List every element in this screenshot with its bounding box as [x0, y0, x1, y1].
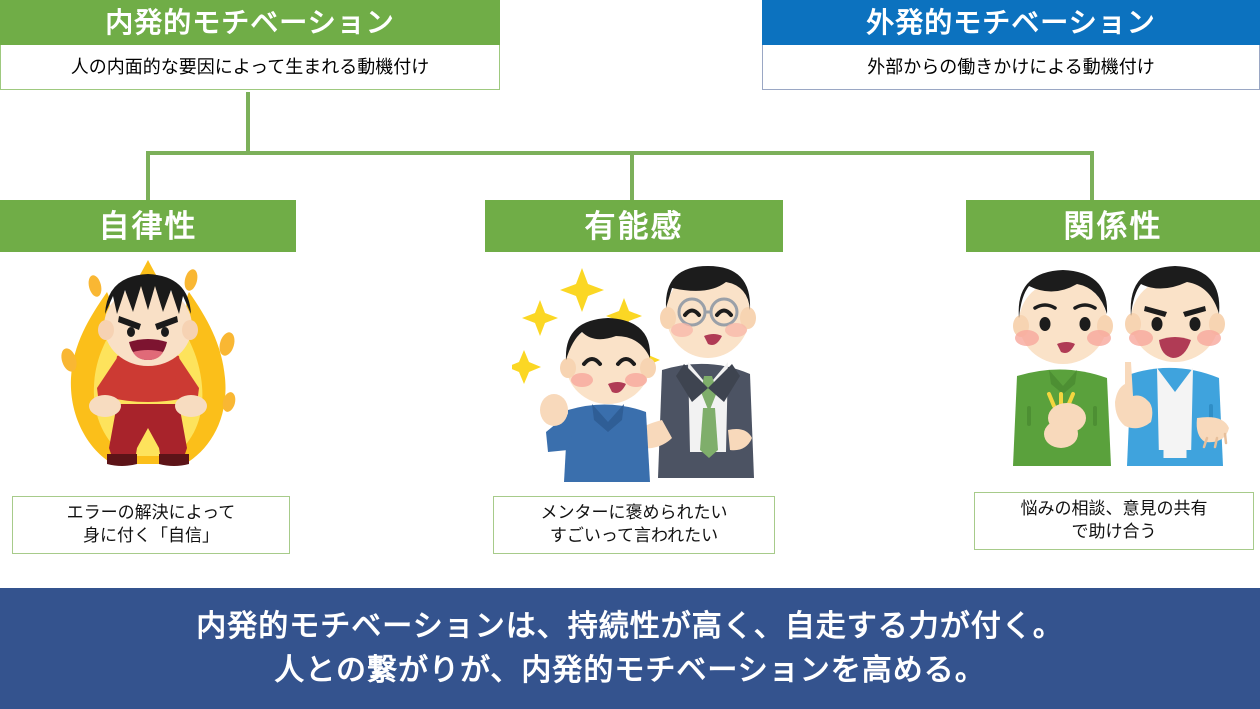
pillar-competence-label: 有能感	[485, 200, 783, 252]
green-person-cheek	[1087, 330, 1111, 346]
mentor-cheek	[671, 323, 693, 337]
mentor-cheek	[725, 323, 747, 337]
pillar-relatedness-label: 関係性	[966, 200, 1260, 252]
pillar-autonomy-label: 自律性	[0, 200, 296, 252]
blue-person-hand	[1197, 417, 1229, 442]
caption-line: 身に付く「自信」	[83, 525, 219, 548]
person-fist	[89, 395, 121, 417]
pillar-relatedness-caption: 悩みの相談、意見の共有 で助け合う	[974, 492, 1254, 550]
green-person-eye	[1080, 317, 1091, 331]
pillar-autonomy: 自律性	[0, 200, 296, 496]
extrinsic-motivation-header-group: 外発的モチベーション 外部からの働きかけによる動機付け	[762, 0, 1260, 90]
summary-line-1: 内発的モチベーションは、持続性が高く、自走する力が付く。	[196, 612, 1063, 642]
intrinsic-motivation-title: 内発的モチベーション	[0, 0, 500, 45]
slide-canvas: 内発的モチベーション 人の内面的な要因によって生まれる動機付け 外発的モチベーシ…	[0, 0, 1260, 709]
blue-person-cheek	[1129, 330, 1153, 346]
extrinsic-motivation-title: 外発的モチベーション	[762, 0, 1260, 45]
caption-line: で助け合う	[1072, 521, 1157, 544]
person-eye	[127, 327, 135, 337]
caption-line: すごいって言われたい	[550, 525, 718, 548]
extrinsic-motivation-subtitle: 外部からの働きかけによる動機付け	[762, 45, 1260, 90]
person-hair	[105, 274, 191, 314]
green-person-cheek	[1015, 330, 1039, 346]
connector-drop-autonomy	[146, 151, 150, 201]
intrinsic-motivation-header-group: 内発的モチベーション 人の内面的な要因によって生まれる動機付け	[0, 0, 500, 90]
youth-hand	[540, 394, 568, 426]
youth-cheek	[571, 373, 593, 387]
pillar-competence-caption: メンターに褒められたい すごいって言われたい	[493, 496, 775, 554]
connector-drop-competence	[630, 151, 634, 201]
youth-shirt	[564, 404, 650, 482]
green-person-eye	[1040, 317, 1051, 331]
blue-person-eye	[1190, 317, 1201, 331]
connector-stem-vertical	[246, 92, 250, 154]
person-shoe	[159, 454, 189, 466]
youth-cheek	[625, 373, 647, 387]
connector-horizontal-bus	[146, 151, 1094, 155]
sparkle-star	[522, 300, 558, 336]
person-ear	[182, 320, 198, 340]
burning-motivated-person-illustration	[0, 252, 296, 496]
caption-line: エラーの解決によって	[67, 502, 236, 525]
blue-person-eye	[1152, 317, 1163, 331]
two-people-talking-illustration	[966, 252, 1260, 496]
mentor-tie	[700, 408, 718, 458]
flame-ember	[87, 274, 104, 298]
intrinsic-motivation-subtitle: 人の内面的な要因によって生まれる動機付け	[0, 45, 500, 90]
summary-line-2: 人との繋がりが、内発的モチベーションを高める。	[274, 656, 986, 686]
mentor-praising-youth-illustration	[485, 252, 783, 496]
pillar-autonomy-caption: エラーの解決によって 身に付く「自信」	[12, 496, 290, 554]
sparkle-star	[560, 268, 604, 312]
person-ear	[98, 320, 114, 340]
pillar-competence: 有能感	[485, 200, 783, 496]
blue-person-cheek	[1197, 330, 1221, 346]
summary-banner: 内発的モチベーションは、持続性が高く、自走する力が付く。 人との繋がりが、内発的…	[0, 588, 1260, 709]
person-shoe	[107, 454, 137, 466]
caption-line: 悩みの相談、意見の共有	[1021, 498, 1208, 521]
sparkle-star	[512, 350, 541, 384]
connector-drop-relatedness	[1090, 151, 1094, 201]
flame-ember	[183, 268, 200, 292]
youth-ear	[560, 358, 576, 378]
caption-line: メンターに褒められたい	[541, 502, 728, 525]
person-eye	[161, 327, 169, 337]
pillar-relatedness: 関係性	[966, 200, 1260, 496]
person-fist	[175, 395, 207, 417]
green-person-hand	[1044, 420, 1078, 448]
